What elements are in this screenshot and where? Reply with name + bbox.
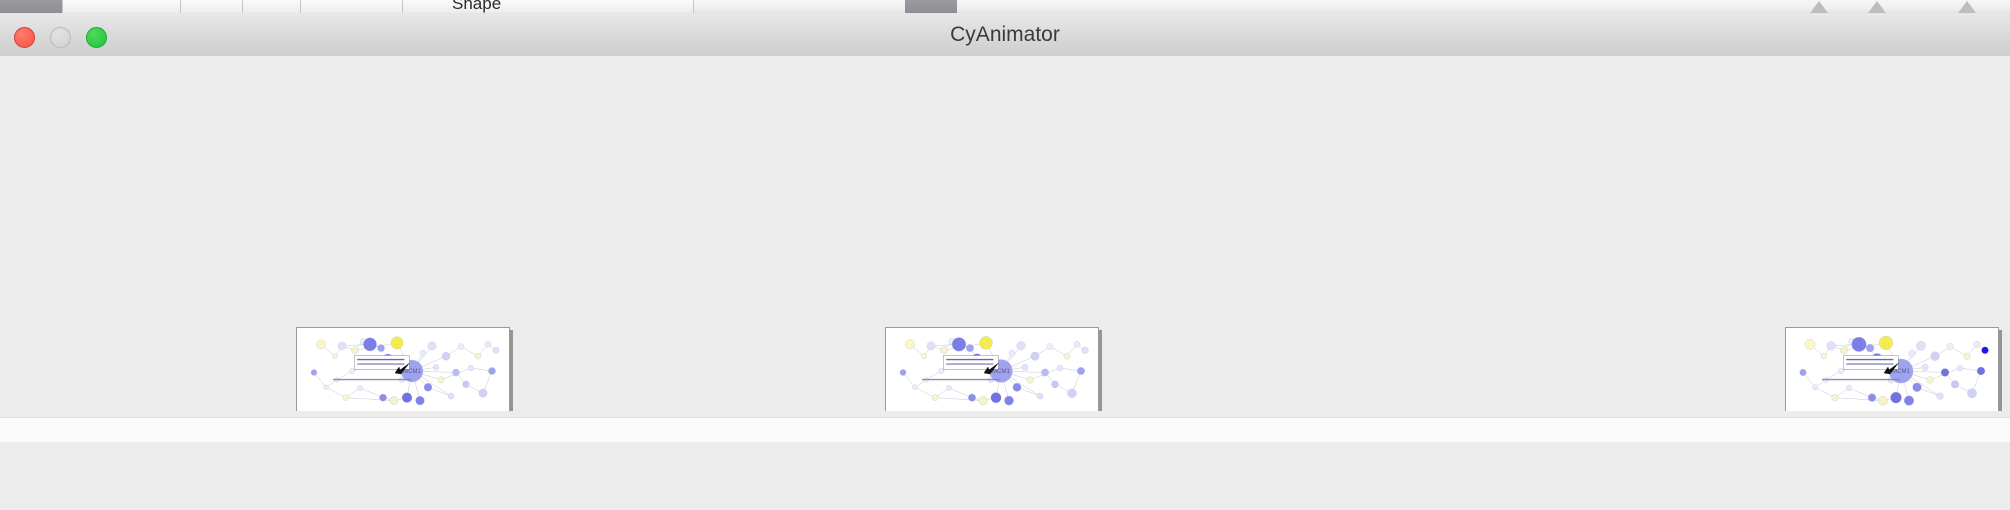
bg-window-label: Shape — [452, 0, 501, 14]
bg-tile — [180, 0, 244, 13]
bg-tile-dark — [905, 0, 957, 13]
minimize-button[interactable] — [50, 27, 71, 48]
page-title: CyAnimator — [0, 14, 2010, 56]
bg-tile-dark — [0, 0, 62, 13]
bg-tile — [62, 0, 182, 13]
network-graph: MCM1 — [297, 328, 509, 411]
network-graph: MCM1 — [886, 328, 1098, 411]
bg-triangle-icon — [1810, 1, 1828, 13]
close-button[interactable] — [14, 27, 35, 48]
svg-text:MCM1: MCM1 — [403, 369, 421, 375]
bg-tile — [402, 0, 694, 13]
title-bar: CyAnimator — [0, 14, 2010, 57]
bg-tile — [242, 0, 302, 13]
svg-text:MCM1: MCM1 — [1892, 369, 1910, 375]
timeline-panel[interactable]: 12131415161718 Seconds MCM1MCM1MCM1 — [0, 111, 2010, 411]
maximize-button[interactable] — [86, 27, 107, 48]
timeline-frame-thumbnail[interactable]: MCM1 — [885, 327, 1099, 411]
network-graph: MCM1 — [1786, 328, 1998, 411]
bg-tile — [300, 0, 404, 13]
svg-text:MCM1: MCM1 — [992, 369, 1010, 375]
timeline-frame-thumbnail[interactable]: MCM1 — [1785, 327, 1999, 411]
background-window-strip: Shape — [0, 0, 2010, 15]
bg-triangle-icon — [1868, 1, 1886, 13]
bg-triangle-icon — [1958, 1, 1976, 13]
cyanimator-window: Shape CyAnimator + Clear All Frames — [0, 0, 2010, 510]
playback-control-bar: ↻ Animation Speed: — [0, 442, 2010, 510]
toolbar: + Clear All Frames — [0, 56, 2010, 112]
timeline-frame-thumbnail[interactable]: MCM1 — [296, 327, 510, 411]
timeline-scrollbar-track[interactable] — [0, 417, 2010, 443]
